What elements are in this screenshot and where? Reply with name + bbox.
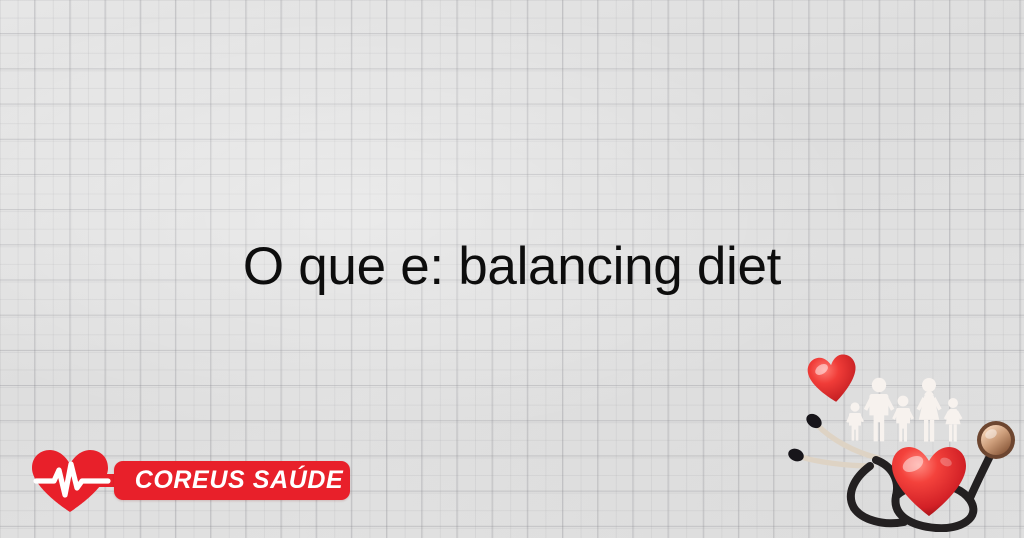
heart-ecg-icon — [28, 448, 112, 514]
brand-name-badge: COREUS SAÚDE — [114, 461, 350, 500]
brand-name-label: COREUS SAÚDE — [114, 461, 350, 500]
brand-logo: COREUS SAÚDE — [28, 448, 350, 514]
slide-canvas: O que e: balancing diet COREUS SAÚDE — [0, 0, 1024, 538]
page-title: O que e: balancing diet — [0, 238, 1024, 295]
medical-collage — [780, 348, 1024, 538]
large-heart-icon — [888, 443, 970, 519]
